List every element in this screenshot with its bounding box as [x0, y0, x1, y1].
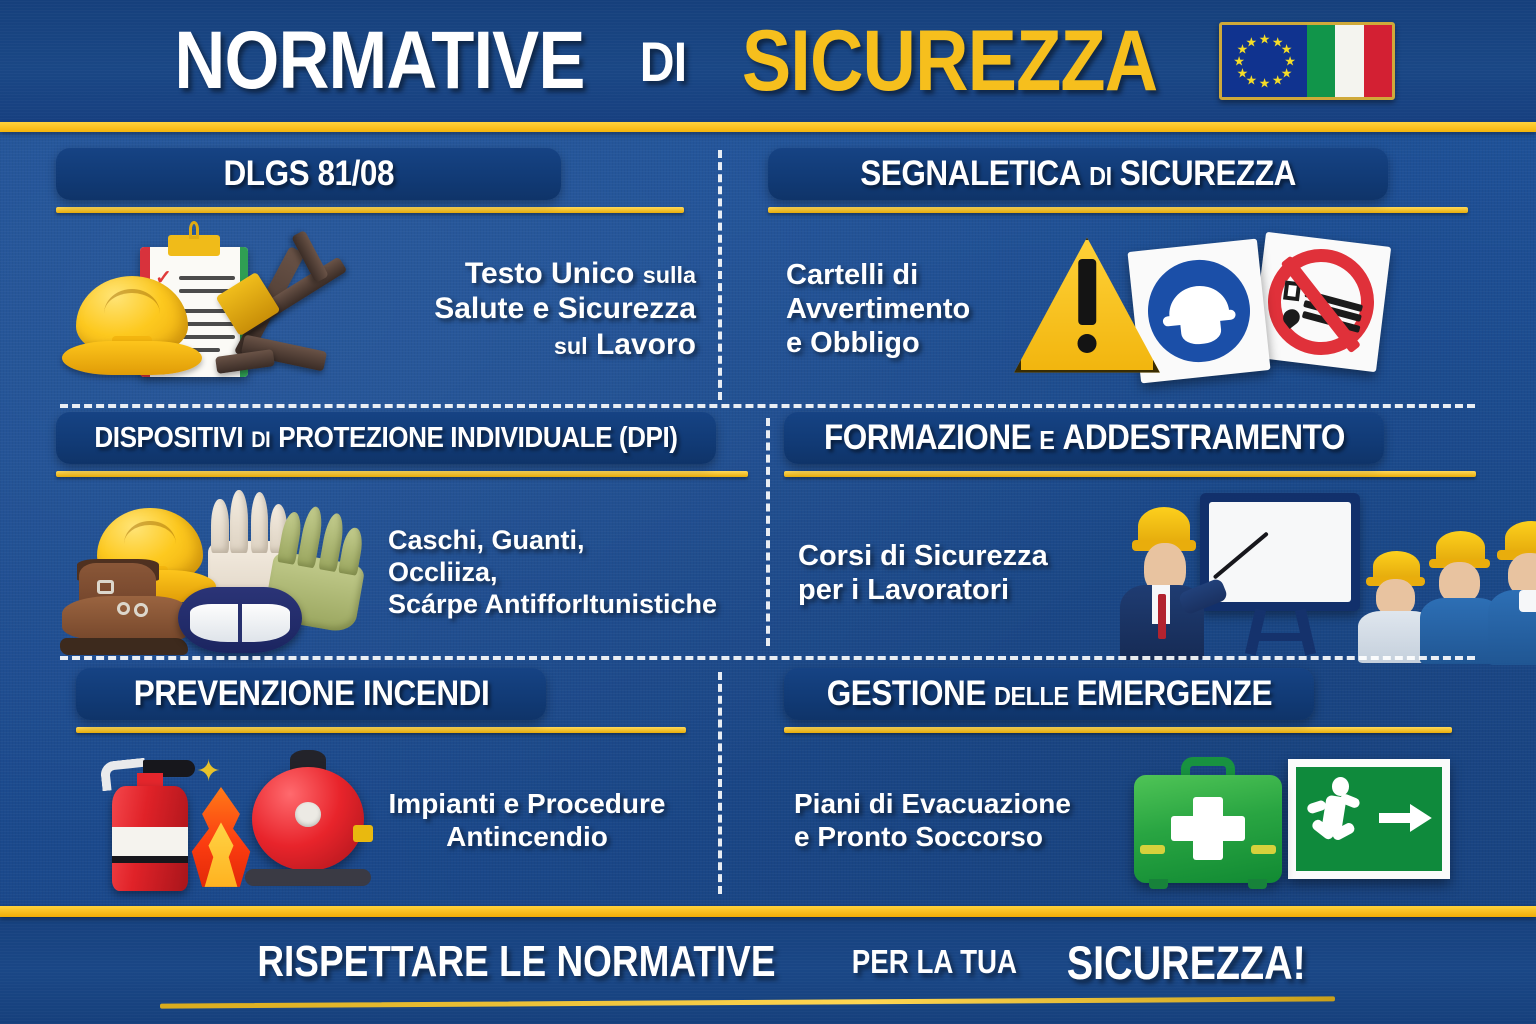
card-body: Piani di Evacuazione e Pronto Soccorso: [784, 745, 1464, 895]
easel-leg-icon: [1295, 608, 1316, 655]
card-body: ✓ ✓: [56, 225, 696, 393]
worker-audience-icon: [1488, 521, 1536, 659]
card-title: DLGS 81/08: [223, 154, 394, 194]
card-text: Impianti e Procedure Antincendio: [382, 787, 672, 853]
header-gold-underline: [76, 727, 686, 733]
header-gold-underline: [56, 471, 748, 477]
title-gold-divider: [0, 122, 1536, 132]
easel-crossbar-icon: [1255, 633, 1311, 641]
warning-triangle-icon: [1014, 233, 1160, 377]
divider-vertical-top: [718, 150, 722, 400]
emergency-exit-sign-icon: [1288, 759, 1450, 879]
eu-flag-icon: ★ ★ ★ ★ ★ ★ ★ ★ ★ ★ ★ ★: [1222, 25, 1307, 97]
divider-vertical-middle: [766, 418, 770, 646]
safety-boot-icon: [62, 563, 186, 655]
poster-title: NORMATIVE DI SICUREZZA ★ ★ ★ ★ ★ ★ ★ ★ ★…: [0, 0, 1536, 122]
title-part-sicurezza: SICUREZZA: [742, 12, 1157, 111]
footer-part1: RISPETTARE LE NORMATIVE: [257, 937, 775, 987]
card-illustration: [1006, 225, 1468, 393]
card-title-part1: DISPOSITIVI: [94, 422, 243, 455]
card-title-part1: GESTIONE: [826, 674, 985, 714]
card-header-bar: FORMAZIONE E ADDESTRAMENTO: [784, 412, 1384, 464]
footer-part3: SICUREZZA!: [1066, 935, 1305, 990]
header-gold-underline: [56, 207, 684, 213]
card-header: GESTIONE DELLE EMERGENZE: [784, 668, 1464, 733]
prohibition-sign-icon: [1251, 232, 1391, 372]
card-illustration: [56, 489, 382, 657]
card-illustration: [1100, 745, 1464, 895]
card-segnaletica-di-sicurezza[interactable]: SEGNALETICA DI SICUREZZA Cartelli di Avv…: [768, 148, 1468, 398]
instructor-icon: [1118, 507, 1218, 657]
first-aid-kit-icon: [1134, 757, 1282, 883]
card-header: PREVENZIONE INCENDI: [76, 668, 696, 733]
footer-slogan: RISPETTARE LE NORMATIVE PER LA TUA SICUR…: [0, 917, 1536, 1007]
card-title-part2: SICUREZZA: [1120, 154, 1296, 194]
card-header: FORMAZIONE E ADDESTRAMENTO: [784, 412, 1476, 477]
card-header-bar: SEGNALETICA DI SICUREZZA: [768, 148, 1388, 200]
flags-group: ★ ★ ★ ★ ★ ★ ★ ★ ★ ★ ★ ★: [1219, 22, 1395, 100]
divider-horizontal-upper: [60, 404, 1475, 408]
card-text: Corsi di Sicurezza per i Lavoratori: [784, 539, 1084, 607]
card-header-bar: DLGS 81/08: [56, 148, 561, 200]
card-title-connector: DELLE: [994, 681, 1068, 712]
card-title-part2: ADDESTRAMENTO: [1062, 418, 1344, 458]
spark-icon: ✦: [196, 757, 221, 787]
card-illustration: ✦: [76, 745, 376, 895]
header-gold-underline: [784, 471, 1476, 477]
card-illustration: [1090, 489, 1476, 657]
card-header-bar: PREVENZIONE INCENDI: [76, 668, 546, 720]
title-connector-di: DI: [640, 29, 686, 94]
card-title-part2: EMERGENZE: [1076, 674, 1271, 714]
card-dlgs-8108[interactable]: DLGS 81/08 ✓ ✓: [56, 148, 696, 398]
title-part-normative: NORMATIVE: [174, 14, 584, 108]
header-gold-underline: [784, 727, 1452, 733]
card-title-part1: FORMAZIONE: [824, 418, 1031, 458]
safety-goggles-icon: [178, 587, 302, 653]
card-title-part2: PROTEZIONE INDIVIDUALE (DPI): [278, 422, 677, 455]
card-formazione-addestramento[interactable]: FORMAZIONE E ADDESTRAMENTO Corsi di Sicu…: [784, 412, 1476, 660]
easel-icon: [1245, 608, 1266, 655]
header-gold-underline: [768, 207, 1468, 213]
card-title: PREVENZIONE INCENDI: [133, 674, 489, 714]
card-header-bar: DISPOSITIVI DI PROTEZIONE INDIVIDUALE (D…: [56, 412, 716, 464]
card-body: Cartelli di Avvertimento e Obbligo: [768, 225, 1468, 393]
card-body: ✦ Impianti e Procedure Antincendio: [76, 745, 696, 895]
card-dispositivi-protezione-individuale[interactable]: DISPOSITIVI DI PROTEZIONE INDIVIDUALE (D…: [56, 412, 748, 660]
flame-icon: [178, 787, 264, 891]
divider-horizontal-lower: [60, 656, 1475, 660]
card-text: Caschi, Guanti, Occliiza, Scárpe Antiffo…: [388, 525, 748, 621]
card-header-bar: GESTIONE DELLE EMERGENZE: [784, 668, 1314, 720]
card-gestione-emergenze[interactable]: GESTIONE DELLE EMERGENZE Piani di Evacua…: [784, 668, 1464, 900]
poster-background: NORMATIVE DI SICUREZZA ★ ★ ★ ★ ★ ★ ★ ★ ★…: [0, 0, 1536, 1024]
footer-gold-divider: [0, 906, 1536, 917]
hard-hat-icon: [62, 267, 202, 379]
card-header: SEGNALETICA DI SICUREZZA: [768, 148, 1468, 213]
card-prevenzione-incendi[interactable]: PREVENZIONE INCENDI: [76, 668, 696, 900]
italy-flag-icon: [1307, 25, 1392, 97]
card-illustration: ✓ ✓: [56, 225, 400, 393]
card-text: Testo Unico sulla Salute e Sicurezza sul…: [406, 256, 696, 362]
card-text: Cartelli di Avvertimento e Obbligo: [768, 258, 1000, 361]
divider-vertical-bottom: [718, 672, 722, 894]
card-body: Caschi, Guanti, Occliiza, Scárpe Antiffo…: [56, 489, 748, 657]
card-header: DISPOSITIVI DI PROTEZIONE INDIVIDUALE (D…: [56, 412, 748, 477]
card-header: DLGS 81/08: [56, 148, 696, 213]
card-title-part1: SEGNALETICA: [860, 154, 1081, 194]
card-title-connector: DI: [251, 427, 270, 453]
footer-part2: PER LA TUA: [851, 943, 1016, 981]
card-title-connector: DI: [1089, 161, 1112, 192]
card-title-connector: E: [1039, 425, 1054, 456]
card-body: Corsi di Sicurezza per i Lavoratori: [784, 489, 1476, 657]
card-text: Piani di Evacuazione e Pronto Soccorso: [784, 787, 1094, 853]
alarm-bell-icon: [252, 767, 364, 871]
